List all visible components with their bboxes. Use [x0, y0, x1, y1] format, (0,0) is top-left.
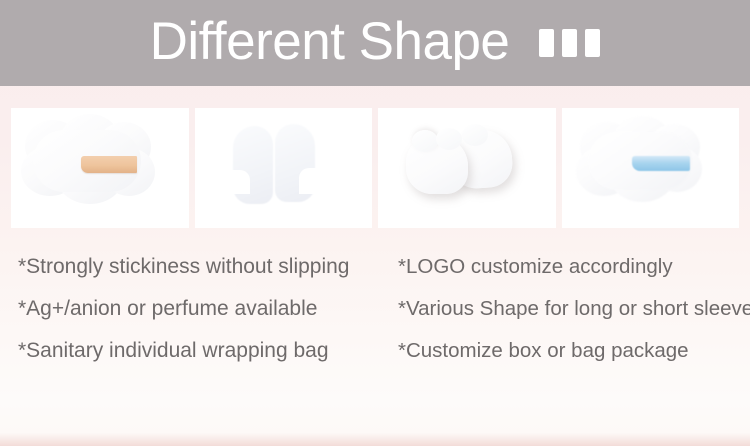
product-gallery [11, 108, 739, 228]
feature-item: *Strongly stickiness without slipping [18, 246, 382, 288]
adhesive-strip-blue [632, 156, 690, 171]
feature-item: *Sanitary individual wrapping bag [18, 330, 382, 372]
product-image-cloud-tan [11, 108, 189, 228]
product-image-cloud-blue [562, 108, 740, 228]
header-content: Different Shape [150, 15, 601, 68]
bar-segment-1 [539, 29, 554, 57]
feature-item: *Various Shape for long or short sleeve [398, 288, 750, 330]
pad-lobe [412, 130, 438, 152]
pad-notch-right [299, 168, 317, 194]
product-panel-wings[interactable] [195, 108, 373, 228]
product-image-overlapping [378, 108, 556, 228]
product-feature-banner: Different Shape [0, 0, 750, 446]
feature-item: *Customize box or bag package [398, 330, 750, 372]
banner-header: Different Shape [0, 0, 750, 86]
pad-lobe [462, 124, 488, 146]
adhesive-strip-tan [81, 156, 137, 173]
product-panel-overlapping[interactable] [378, 108, 556, 228]
page-title: Different Shape [150, 15, 510, 68]
bar-segment-2 [562, 29, 577, 57]
feature-column-right: *LOGO customize accordingly *Various Sha… [382, 246, 750, 372]
bars-icon [539, 29, 600, 57]
pad-notch-left [232, 170, 250, 194]
feature-column-left: *Strongly stickiness without slipping *A… [0, 246, 382, 372]
product-image-wings [195, 108, 373, 228]
product-panel-cloud-tan[interactable] [11, 108, 189, 228]
product-panel-cloud-blue[interactable] [562, 108, 740, 228]
feature-list: *Strongly stickiness without slipping *A… [0, 246, 750, 372]
bar-segment-3 [585, 29, 600, 57]
pad-lobe [436, 128, 462, 150]
feature-item: *LOGO customize accordingly [398, 246, 750, 288]
feature-item: *Ag+/anion or perfume available [18, 288, 382, 330]
